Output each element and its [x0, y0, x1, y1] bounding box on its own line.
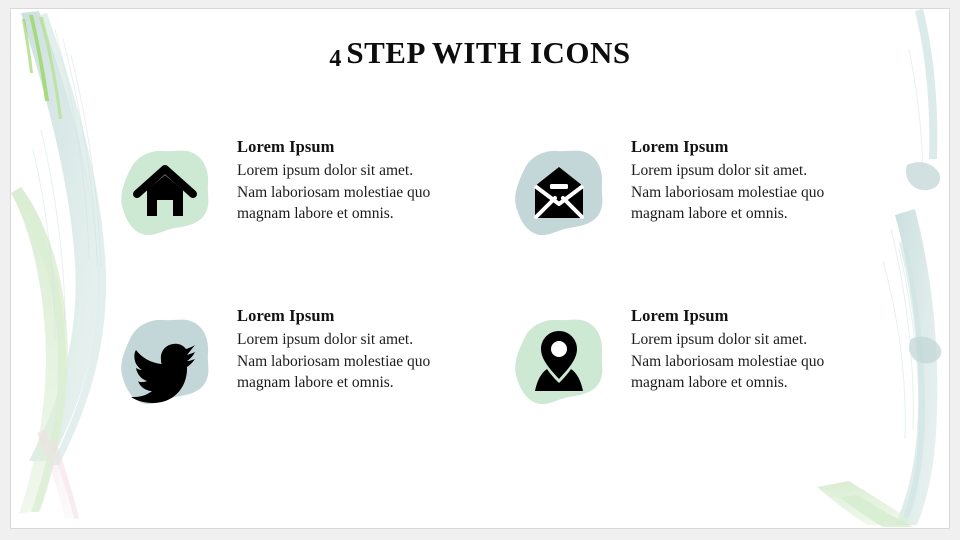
slide: 4STEP WITH ICONS Lorem Ipsum Lorem ipsu [0, 0, 960, 540]
step-item-1[interactable]: Lorem Ipsum Lorem ipsum dolor sit amet. … [113, 137, 513, 307]
step-heading-1: Lorem Ipsum [237, 137, 447, 156]
step-text-3: Lorem Ipsum Lorem ipsum dolor sit amet. … [237, 306, 447, 394]
step-item-2[interactable]: Lorem Ipsum Lorem ipsum dolor sit amet. … [507, 137, 907, 307]
location-pin-icon [507, 311, 611, 415]
step-body-1: Lorem ipsum dolor sit amet. Nam laborios… [237, 160, 447, 225]
home-icon [113, 142, 217, 246]
step-item-3[interactable]: Lorem Ipsum Lorem ipsum dolor sit amet. … [113, 306, 513, 476]
step-body-3: Lorem ipsum dolor sit amet. Nam laborios… [237, 329, 447, 394]
steps-grid: Lorem Ipsum Lorem ipsum dolor sit amet. … [11, 9, 949, 528]
envelope-icon [507, 142, 611, 246]
step-body-2: Lorem ipsum dolor sit amet. Nam laborios… [631, 160, 841, 225]
step-body-4: Lorem ipsum dolor sit amet. Nam laborios… [631, 329, 841, 394]
step-text-2: Lorem Ipsum Lorem ipsum dolor sit amet. … [631, 137, 841, 225]
twitter-bird-icon [113, 311, 217, 415]
step-text-4: Lorem Ipsum Lorem ipsum dolor sit amet. … [631, 306, 841, 394]
icon-blob-2 [507, 142, 611, 246]
step-text-1: Lorem Ipsum Lorem ipsum dolor sit amet. … [237, 137, 447, 225]
icon-blob-4 [507, 311, 611, 415]
slide-canvas: 4STEP WITH ICONS Lorem Ipsum Lorem ipsu [11, 9, 949, 528]
step-heading-2: Lorem Ipsum [631, 137, 841, 156]
icon-blob-1 [113, 142, 217, 246]
step-heading-4: Lorem Ipsum [631, 306, 841, 325]
icon-blob-3 [113, 311, 217, 415]
step-heading-3: Lorem Ipsum [237, 306, 447, 325]
step-item-4[interactable]: Lorem Ipsum Lorem ipsum dolor sit amet. … [507, 306, 907, 476]
